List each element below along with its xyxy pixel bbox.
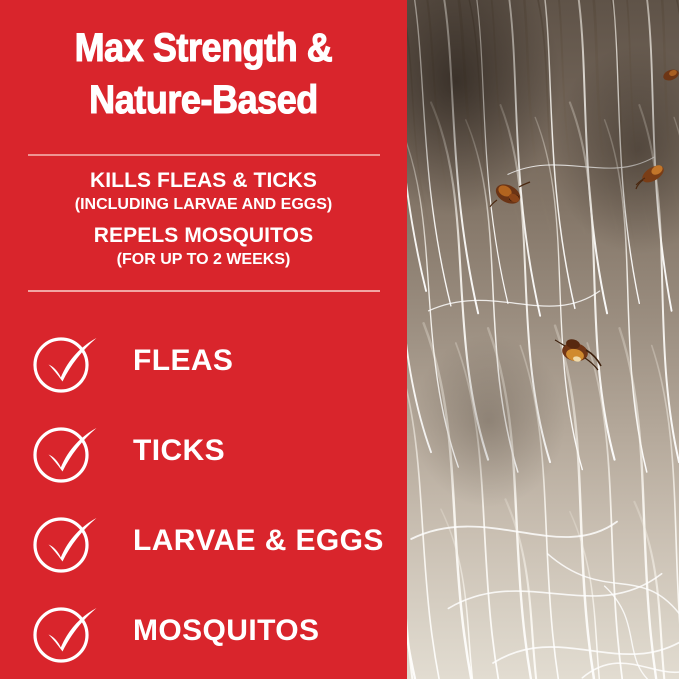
claim-repels-sub: (FOR UP TO 2 WEEKS): [0, 249, 407, 270]
check-circle-icon: [30, 506, 100, 576]
check-circle-icon: [30, 596, 100, 666]
list-item-label: LARVAE & EGGS: [133, 524, 384, 558]
fur-with-fleas-photo: [407, 0, 679, 679]
divider-bottom: [28, 290, 380, 292]
claim-repels-main: REPELS MOSQUITOS: [0, 223, 407, 249]
flea-insect: [635, 160, 675, 190]
claim-repels: REPELS MOSQUITOS (FOR UP TO 2 WEEKS): [0, 223, 407, 270]
headline-line-1: Max Strength &: [20, 22, 386, 74]
page-title: Max Strength & Nature-Based: [20, 22, 386, 126]
claim-kills: KILLS FLEAS & TICKS (INCLUDING LARVAE AN…: [0, 168, 407, 215]
list-item-mosquitos: MOSQUITOS: [0, 586, 407, 676]
flea-insect: [555, 332, 603, 372]
list-item-ticks: TICKS: [0, 406, 407, 496]
product-infographic: Max Strength & Nature-Based KILLS FLEAS …: [0, 0, 679, 679]
list-item-label: TICKS: [133, 434, 225, 468]
flea-insect: [662, 66, 679, 84]
claim-kills-main: KILLS FLEAS & TICKS: [0, 168, 407, 194]
claims-block: KILLS FLEAS & TICKS (INCLUDING LARVAE AN…: [0, 168, 407, 278]
headline-line-2: Nature-Based: [20, 74, 386, 126]
check-circle-icon: [30, 326, 100, 396]
check-circle-icon: [30, 416, 100, 486]
flea-insect: [489, 178, 531, 208]
list-item-label: MOSQUITOS: [133, 614, 319, 648]
claim-kills-sub: (INCLUDING LARVAE AND EGGS): [0, 194, 407, 215]
benefit-check-list: FLEAS TICKS LARVAE & E: [0, 316, 407, 676]
fur-shading: [407, 0, 679, 679]
divider-top: [28, 154, 380, 156]
list-item-label: FLEAS: [133, 344, 233, 378]
list-item-larvae-eggs: LARVAE & EGGS: [0, 496, 407, 586]
list-item-fleas: FLEAS: [0, 316, 407, 406]
left-red-panel: Max Strength & Nature-Based KILLS FLEAS …: [0, 0, 407, 679]
